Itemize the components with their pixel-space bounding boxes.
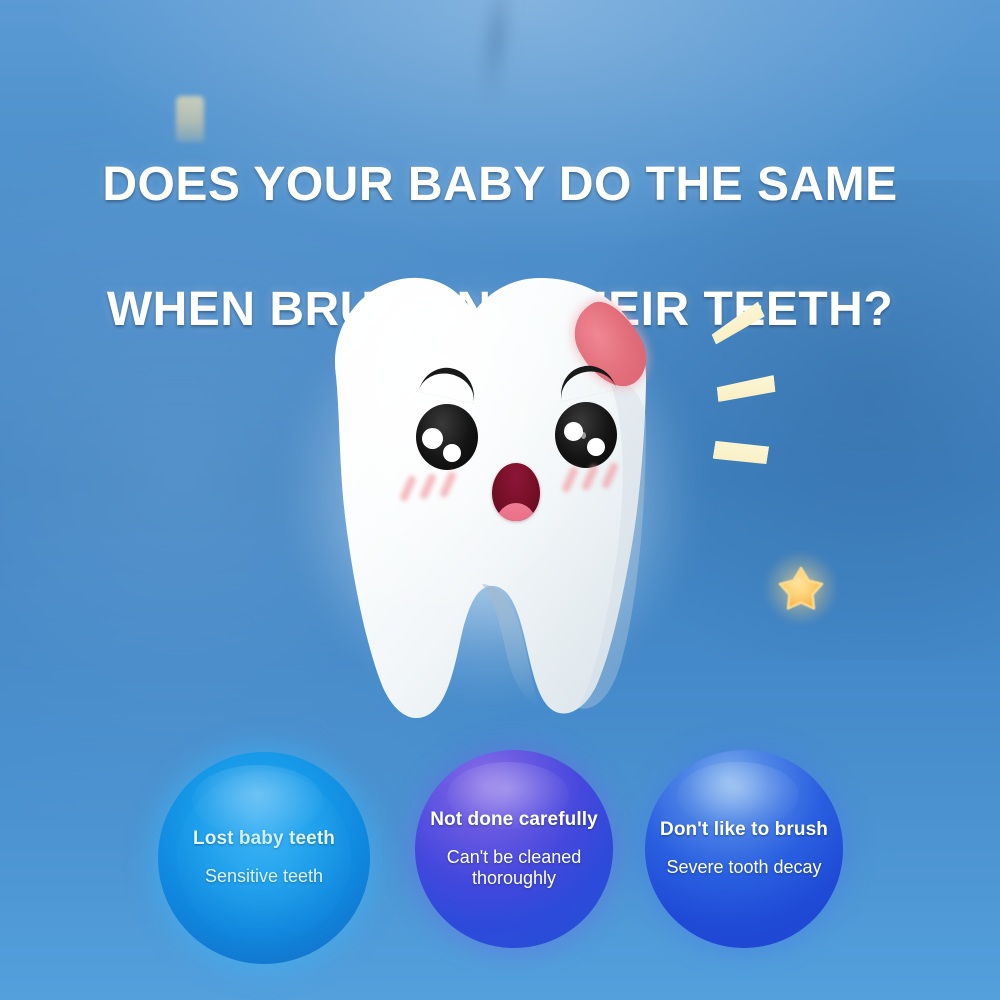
tooth-mascot (268, 256, 714, 736)
headline-light-artifact (176, 96, 204, 142)
bubble-title: Don't like to brush (660, 819, 828, 841)
eye-left-icon (416, 404, 478, 470)
reason-bubble-dont-like-to-brush[interactable]: Don't like to brush Severe tooth decay (645, 750, 843, 948)
reason-bubble-not-done-carefully[interactable]: Not done carefully Can't be cleaned thor… (415, 750, 613, 948)
eye-highlight (587, 438, 605, 456)
bubble-inner-ring (177, 771, 351, 945)
reason-bubble-lost-baby-teeth[interactable]: Lost baby teeth Sensitive teeth (158, 752, 370, 964)
reason-bubble-group: Lost baby teeth Sensitive teeth Not done… (0, 750, 1000, 1000)
bubble-subtitle: Sensitive teeth (205, 866, 323, 887)
mouth-icon (492, 463, 540, 521)
eye-highlight (438, 436, 443, 443)
bubble-title: Not done carefully (430, 809, 598, 831)
poster-canvas: DOES YOUR BABY DO THE SAME WHEN BRUSHING… (0, 0, 1000, 1000)
eye-right-icon (555, 402, 617, 468)
eye-highlight (443, 444, 461, 462)
tongue-icon (496, 503, 536, 521)
eye-highlight (581, 432, 586, 439)
bubble-subtitle: Severe tooth decay (666, 857, 821, 878)
eye-highlight (564, 422, 583, 441)
blush-left-icon (402, 471, 464, 505)
bubble-sheen (192, 765, 323, 837)
eyebrow-left-icon (418, 363, 479, 404)
tooth-face (268, 256, 714, 736)
bubble-subtitle: Can't be cleaned thoroughly (447, 847, 582, 889)
bubble-title: Lost baby teeth (193, 828, 335, 850)
blush-right-icon (564, 462, 626, 496)
